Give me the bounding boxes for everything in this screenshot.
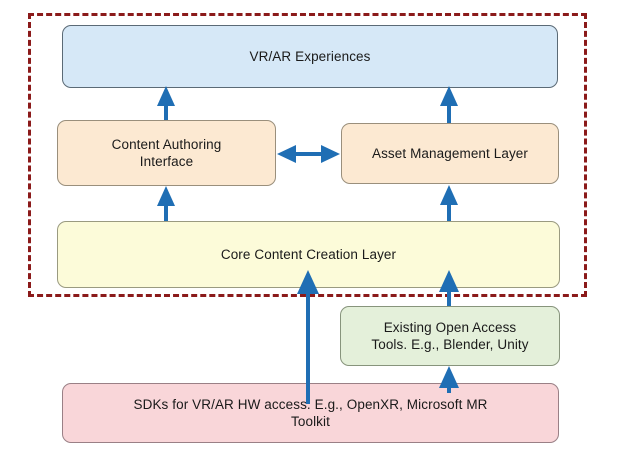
node-content-authoring-interface[interactable]: Content Authoring Interface — [57, 120, 276, 186]
diagram-canvas: VR/AR Experiences Content Authoring Inte… — [0, 0, 623, 450]
node-existing-open-access-tools-label: Existing Open Access Tools. E.g., Blende… — [349, 319, 551, 354]
node-sdks-vr-ar-hw-access-label: SDKs for VR/AR HW access. E.g., OpenXR, … — [71, 396, 550, 431]
node-sdks-vr-ar-hw-access[interactable]: SDKs for VR/AR HW access. E.g., OpenXR, … — [62, 383, 559, 443]
node-asset-management-layer-label: Asset Management Layer — [350, 145, 550, 162]
node-core-content-creation-layer-label: Core Content Creation Layer — [66, 246, 551, 263]
node-existing-open-access-tools[interactable]: Existing Open Access Tools. E.g., Blende… — [340, 306, 560, 366]
node-content-authoring-interface-label: Content Authoring Interface — [66, 136, 267, 171]
node-vr-ar-experiences[interactable]: VR/AR Experiences — [62, 25, 558, 88]
node-asset-management-layer[interactable]: Asset Management Layer — [341, 123, 559, 184]
node-vr-ar-experiences-label: VR/AR Experiences — [71, 48, 549, 65]
node-core-content-creation-layer[interactable]: Core Content Creation Layer — [57, 221, 560, 288]
